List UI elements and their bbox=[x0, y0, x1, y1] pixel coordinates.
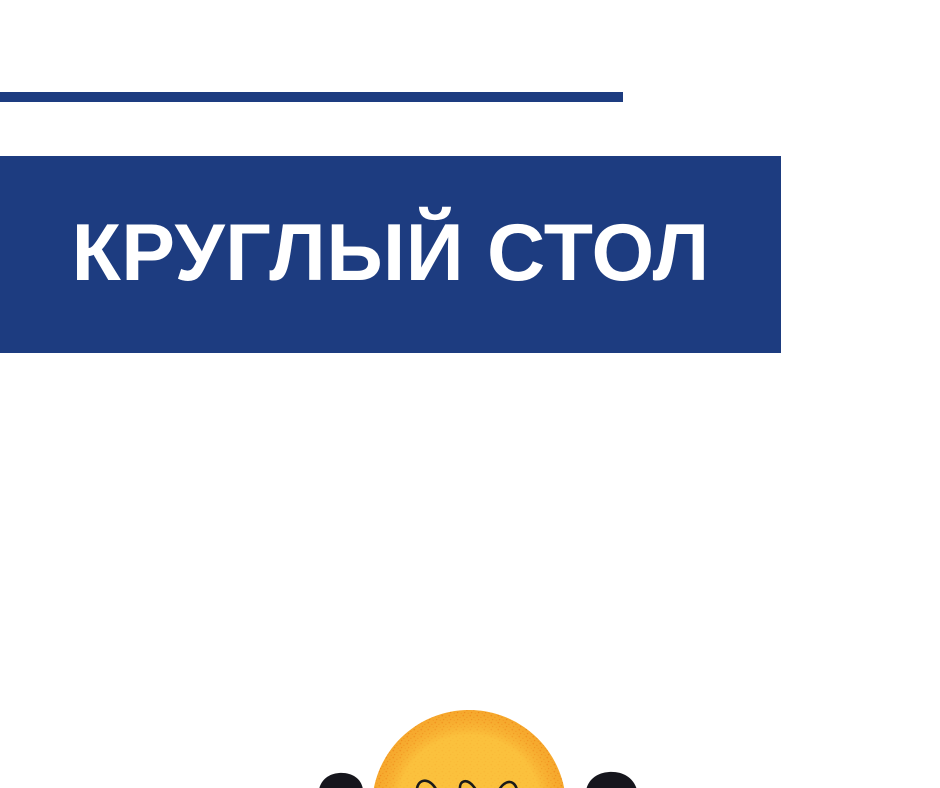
figure-woman-right bbox=[556, 772, 660, 788]
title-banner: КРУГЛЫЙ СТОЛ bbox=[0, 156, 781, 353]
woman-hair bbox=[585, 772, 638, 788]
top-accent-rule bbox=[0, 92, 623, 102]
light-bulb-group bbox=[372, 710, 566, 788]
figure-man-left bbox=[283, 773, 387, 788]
page-title: КРУГЛЫЙ СТОЛ bbox=[71, 213, 709, 294]
bulb-glass-rim-shade bbox=[372, 710, 566, 788]
slide-canvas: КРУГЛЫЙ СТОЛ bbox=[0, 0, 940, 788]
illustration-people-lightbulb bbox=[0, 350, 940, 788]
